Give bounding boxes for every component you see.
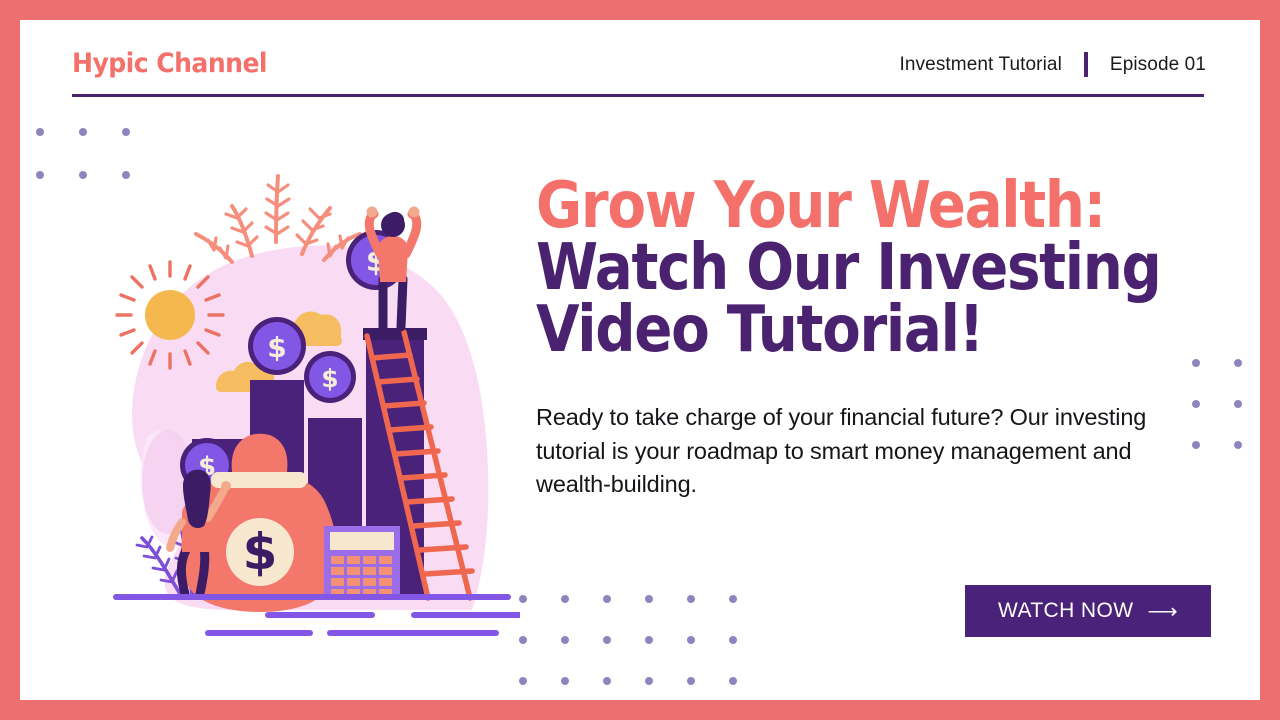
money-bag-dollar-symbol: $ [243, 523, 278, 581]
coin-icon: $ [248, 317, 306, 375]
dot [36, 128, 44, 136]
dot-grid-bottom [519, 595, 771, 700]
calculator [324, 526, 400, 598]
dot [519, 595, 527, 603]
headline-line-2: Watch Our Investing [536, 237, 1143, 299]
header-category: Investment Tutorial [900, 54, 1062, 76]
channel-logo[interactable]: Hypic Channel [72, 48, 267, 79]
page-title: Grow Your Wealth: Watch Our Investing Vi… [536, 175, 1143, 361]
watch-now-label: WATCH NOW [998, 599, 1133, 623]
dot [1234, 359, 1242, 367]
sprig-decoration [196, 176, 360, 262]
dot [729, 595, 737, 603]
dot [687, 677, 695, 685]
dot [1234, 441, 1242, 449]
dot [36, 171, 44, 179]
investment-growth-illustration: $ $ $ $ [80, 150, 520, 650]
dot [561, 595, 569, 603]
dot [122, 128, 130, 136]
dot [603, 595, 611, 603]
dot [79, 128, 87, 136]
arrow-right-icon: ⟶ [1147, 601, 1178, 622]
body-text: Ready to take charge of your financial f… [536, 401, 1196, 501]
dot [603, 677, 611, 685]
dot [645, 677, 653, 685]
watch-now-button[interactable]: WATCH NOW ⟶ [965, 585, 1211, 637]
bar-4-top-plate [363, 328, 427, 340]
dot [561, 636, 569, 644]
dot [1234, 400, 1242, 408]
dot [519, 677, 527, 685]
dot [645, 595, 653, 603]
dot [645, 636, 653, 644]
headline-line-3: Video Tutorial! [536, 299, 1143, 361]
content-block: Grow Your Wealth: Watch Our Investing Vi… [536, 175, 1226, 501]
header-divider [1084, 52, 1088, 77]
dot [687, 636, 695, 644]
dot [603, 636, 611, 644]
svg-text:$: $ [321, 364, 338, 393]
dot [729, 677, 737, 685]
header: Hypic Channel Investment Tutorial Episod… [72, 40, 1206, 100]
banner-card: Hypic Channel Investment Tutorial Episod… [20, 20, 1260, 700]
header-meta: Investment Tutorial Episode 01 [900, 52, 1207, 77]
headline-line-1: Grow Your Wealth: [536, 175, 1143, 237]
coin-icon: $ [304, 351, 356, 403]
banner-frame: Hypic Channel Investment Tutorial Episod… [0, 0, 1280, 720]
header-rule [72, 94, 1204, 97]
header-episode: Episode 01 [1110, 54, 1206, 76]
dot [729, 636, 737, 644]
dot [561, 677, 569, 685]
svg-text:$: $ [267, 331, 286, 364]
dot [687, 595, 695, 603]
dot [519, 636, 527, 644]
